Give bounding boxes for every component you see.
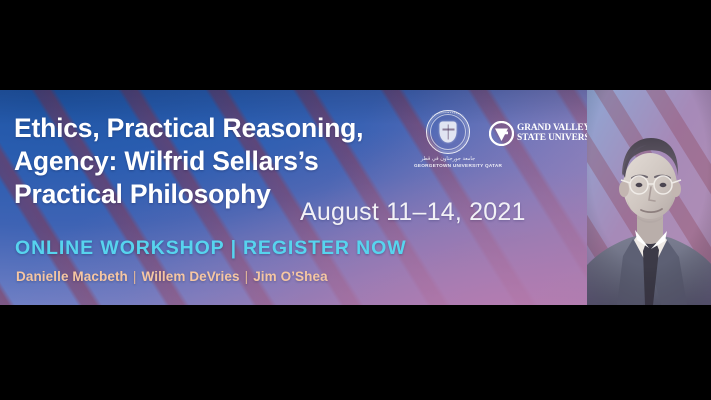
speaker-name-2: Willem DeVries: [142, 269, 240, 284]
portrait-image: [587, 90, 711, 305]
speaker-name-3: Jim O’Shea: [253, 269, 328, 284]
event-title: Ethics, Practical Reasoning, Agency: Wil…: [14, 112, 363, 211]
speaker-separator-2: |: [240, 269, 254, 284]
event-date: August 11–14, 2021: [300, 198, 526, 227]
georgetown-seal-icon: [426, 110, 470, 154]
georgetown-logo-name: GEORGETOWN UNIVERSITY QATAR: [414, 163, 482, 169]
speaker-separator-1: |: [128, 269, 142, 284]
workshop-separator: |: [225, 237, 243, 260]
screenshot-stage: Ethics, Practical Reasoning, Agency: Wil…: [0, 0, 711, 400]
online-workshop-label: ONLINE WORKSHOP: [15, 237, 225, 259]
workshop-register-line[interactable]: ONLINE WORKSHOP|REGISTER NOW: [15, 237, 407, 260]
event-title-line-1: Ethics, Practical Reasoning,: [14, 112, 363, 145]
speakers-line: Danielle Macbeth|Willem DeVries|Jim O’Sh…: [16, 269, 328, 284]
letterbox-bottom: [0, 305, 711, 400]
event-title-line-2: Agency: Wilfrid Sellars’s: [14, 145, 363, 178]
grand-valley-mark-icon: [489, 121, 514, 146]
georgetown-seal-crest: [440, 122, 457, 143]
speaker-name-1: Danielle Macbeth: [16, 269, 128, 284]
georgetown-university-qatar-logo: جامعة جورجتاون في قطر GEORGETOWN UNIVERS…: [414, 110, 482, 178]
register-now-link[interactable]: REGISTER NOW: [243, 237, 407, 259]
letterbox-top: [0, 0, 711, 90]
georgetown-logo-arabic-text: جامعة جورجتاون في قطر: [414, 156, 482, 163]
wilfrid-sellars-portrait: [587, 90, 711, 305]
